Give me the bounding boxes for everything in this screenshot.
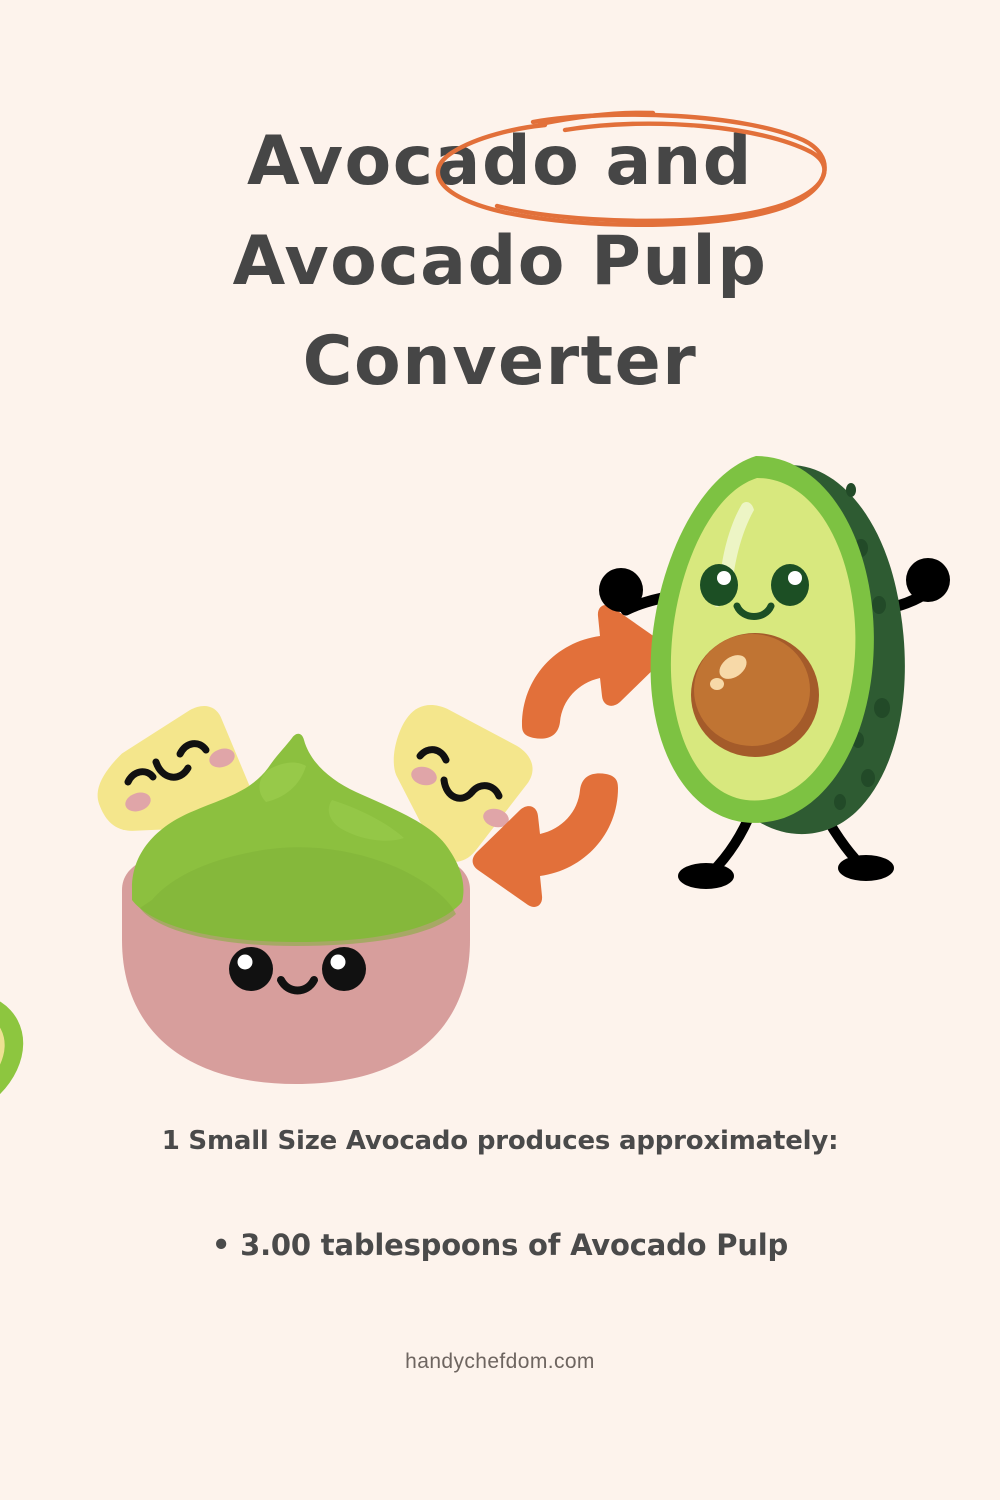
bowl-eye-left-icon [229, 947, 273, 991]
small-avocado-half-icon [0, 965, 47, 1120]
result-headline: 1 Small Size Avocado produces approximat… [0, 1126, 1000, 1156]
avocado-fist-right-icon [906, 558, 950, 602]
avocado-character-group [599, 456, 950, 889]
result-item-0: • 3.00 tablespoons of Avocado Pulp [0, 1228, 1000, 1262]
avocado-eye-right-icon [771, 564, 809, 606]
title-line-1: Avocado and [0, 112, 1000, 212]
avocado-foot-left-icon [678, 863, 734, 889]
title-line-3: Converter [0, 312, 1000, 412]
bowl-eye-right-icon [322, 947, 366, 991]
avocado-eye-left-icon [700, 564, 738, 606]
conversion-illustration [0, 420, 1000, 1120]
avocado-pit [691, 633, 819, 757]
footer-site-url: handychefdom.com [0, 1350, 1000, 1374]
avocado-fist-left-icon [599, 568, 643, 612]
guacamole-bowl-group [0, 702, 537, 1120]
title-line-2: Avocado Pulp [0, 212, 1000, 312]
illustration-area [0, 420, 1000, 1120]
page-title: Avocado and Avocado Pulp Converter [0, 112, 1000, 412]
page-root: { "page": { "background_color": "#FDF3EC… [0, 0, 1000, 1500]
avocado-foot-right-icon [838, 855, 894, 881]
conversion-result: 1 Small Size Avocado produces approximat… [0, 1126, 1000, 1262]
